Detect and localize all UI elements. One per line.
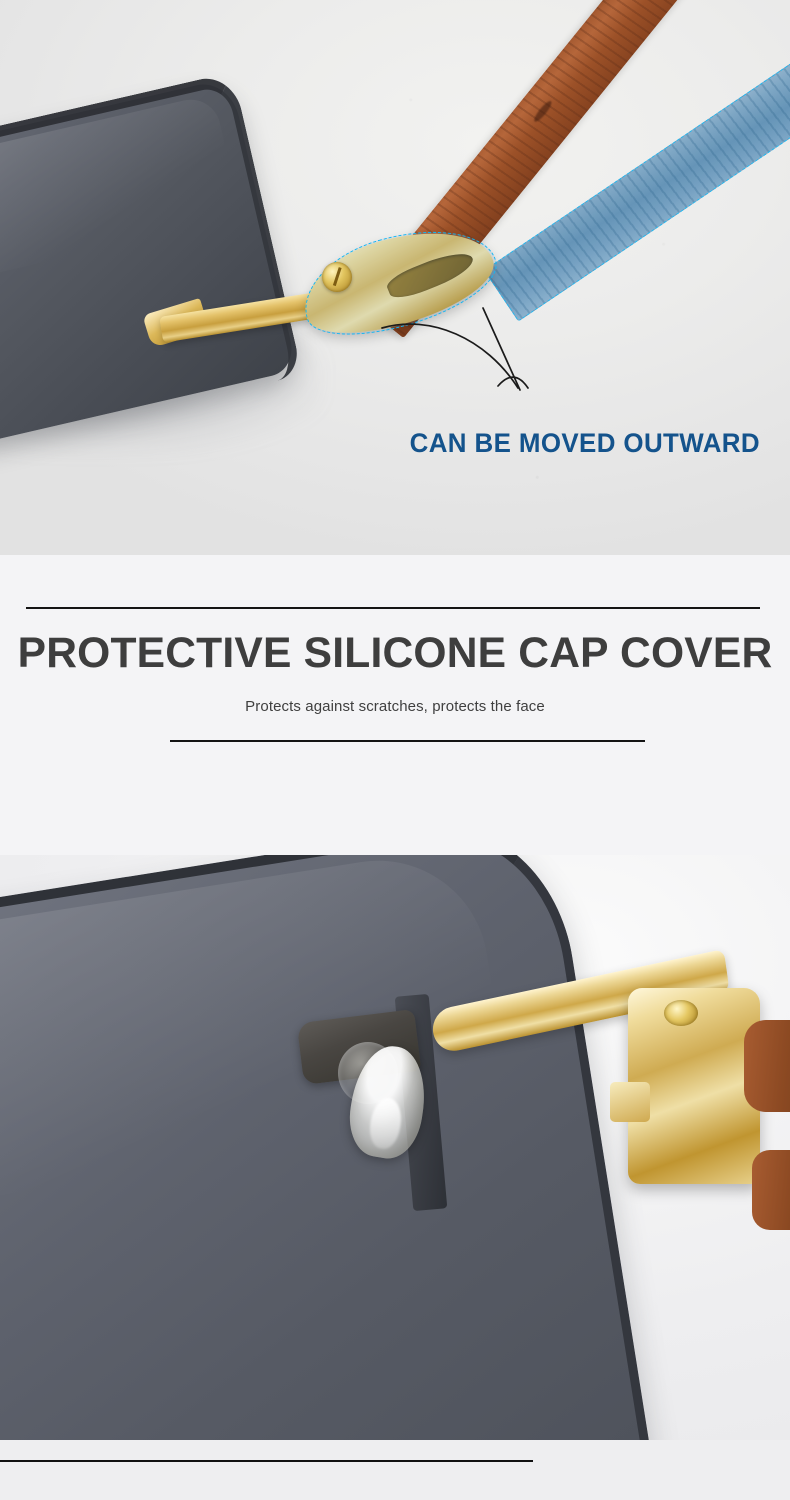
curved-arrow-icon — [378, 302, 568, 402]
divider-bottom — [170, 740, 645, 742]
rosewood-temple-upper — [744, 1020, 790, 1112]
footer-band — [0, 1440, 790, 1500]
sunglass-lens-large — [0, 855, 662, 1440]
product-detail-page: CAN BE MOVED OUTWARD PROTECTIVE SILICONE… — [0, 0, 790, 1500]
divider-top — [26, 607, 760, 609]
hinge-screw-icon — [322, 262, 352, 292]
photo-caption: CAN BE MOVED OUTWARD — [410, 428, 760, 459]
page-subtitle: Protects against scratches, protects the… — [0, 698, 790, 715]
lens-gloss-highlight — [0, 94, 241, 284]
wood-grain-knot — [532, 99, 554, 124]
divider-footer — [0, 1460, 533, 1462]
hinge-flex-photo: CAN BE MOVED OUTWARD — [0, 0, 790, 555]
hinge-notch — [610, 1082, 650, 1122]
rosewood-temple-lower — [752, 1150, 790, 1230]
hinge-block-screw-icon — [664, 1000, 698, 1026]
heading-section: PROTECTIVE SILICONE CAP COVER Protects a… — [0, 555, 790, 855]
page-title: PROTECTIVE SILICONE CAP COVER — [4, 629, 786, 678]
